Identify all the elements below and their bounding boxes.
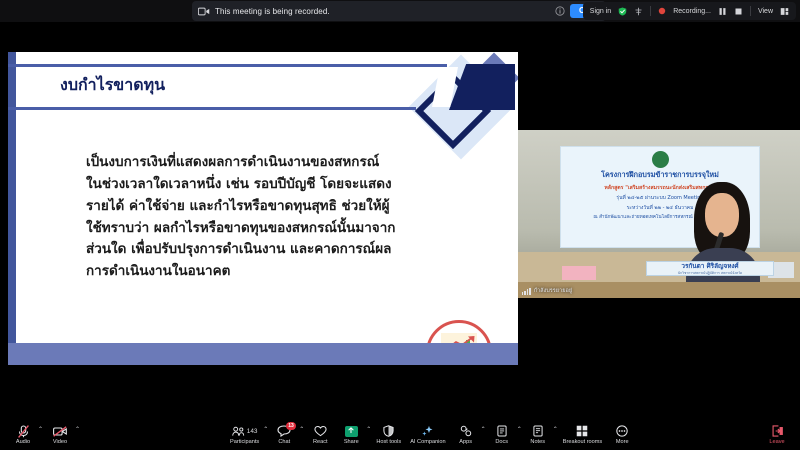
audio-control-group: Audio ⌃ [8,424,43,447]
react-label: React [313,439,328,445]
network-icon[interactable] [634,7,643,16]
leave-label: Leave [769,439,784,445]
host-tools-button[interactable]: Host tools [372,424,405,447]
title-rule-bottom [8,107,416,110]
sign-in-button[interactable]: Sign in [590,8,611,15]
video-status: กำลังบรรยายอยู่ [522,287,572,295]
pause-icon[interactable] [718,7,727,16]
docs-button[interactable]: Docs [487,424,517,447]
shared-slide[interactable]: งบกำไรขาดทุน เป็นงบการเงินที่แสดงผลการดำ… [8,52,518,365]
breakout-rooms-icon [576,425,588,438]
chat-button[interactable]: 13 Chat [269,424,299,447]
host-tools-label: Host tools [376,439,401,445]
apps-group: Apps ⌃ [451,424,486,447]
recording-message: This meeting is being recorded. [215,7,330,16]
slide-body-line: เป็นงบการเงินที่แสดงผลการดำเนินงานของสหก… [86,152,446,174]
slide-bottom-bar [8,343,518,365]
title-chevron-navy [449,64,515,110]
camera-muted-icon [53,425,67,438]
video-label: Video [53,439,67,445]
notes-icon [533,425,543,438]
video-button[interactable]: Video [45,424,75,447]
notes-label: Notes [530,439,545,445]
recording-banner: This meeting is being recorded. OK [192,1,606,21]
share-button[interactable]: Share [336,424,366,447]
view-button[interactable]: View [758,8,773,15]
heart-icon [314,425,327,438]
share-screen-icon [345,425,358,438]
top-right-controls: Sign in Recording... View [583,2,796,20]
more-button[interactable]: More [607,424,637,447]
sparkle-icon [421,425,434,438]
leave-door-icon [771,425,784,438]
docs-label: Docs [495,439,508,445]
chat-label: Chat [278,439,290,445]
shield-host-icon [383,425,394,438]
participants-button[interactable]: 143 Participants [226,424,263,447]
breakout-rooms-label: Breakout rooms [563,439,602,445]
info-icon[interactable] [555,6,565,16]
chat-icon: 13 [277,425,291,438]
ai-companion-label: AI Companion [410,439,445,445]
divider [750,6,751,16]
chat-unread-badge: 13 [286,422,297,430]
notes-group: Notes ⌃ [523,424,558,447]
notes-caret-icon[interactable]: ⌃ [553,426,558,433]
share-group: Share ⌃ [336,424,371,447]
more-ellipsis-icon [616,425,628,438]
share-caret-icon[interactable]: ⌃ [366,426,371,433]
slide-body-line: ในช่วงเวลาใดเวลาหนึ่ง เช่น รอบปีบัญชี โด… [86,174,446,196]
nameplate: วรกันตา ศิริลัญจหงศ์ นักวิชาการสหกรณ์ปฏิ… [646,261,774,276]
slide-body-text: เป็นงบการเงินที่แสดงผลการดำเนินงานของสหก… [86,152,446,283]
docs-caret-icon[interactable]: ⌃ [517,426,522,433]
participants-caret-icon[interactable]: ⌃ [263,426,268,433]
recording-dot-icon [658,7,666,15]
zoom-meeting-window: This meeting is being recorded. OK Sign … [0,0,800,450]
chat-group: 13 Chat ⌃ [269,424,304,447]
shield-check-icon[interactable] [618,7,627,16]
toolbar-center-group: 143 Participants ⌃ 13 Chat ⌃ [226,424,637,447]
participants-group: 143 Participants ⌃ [226,424,268,447]
slide-title-band: งบกำไรขาดทุน [8,64,518,110]
toolbar-left-group: Audio ⌃ Video ⌃ [8,424,80,447]
top-bar: This meeting is being recorded. OK Sign … [0,0,800,22]
nameplate-subtitle: นักวิชาการสหกรณ์ปฏิบัติการ สหกรณ์จังหวัด [647,271,773,276]
breakout-rooms-button[interactable]: Breakout rooms [559,424,606,447]
apps-label: Apps [459,439,472,445]
meeting-toolbar: Audio ⌃ Video ⌃ [0,420,800,450]
slide-body-line: ใช้ทราบว่า ผลกำไรหรือขาดทุนของสหกรณ์นั้น… [86,218,446,240]
leave-button[interactable]: Leave [762,424,792,447]
more-label: More [616,439,629,445]
audio-options-caret-icon[interactable]: ⌃ [38,426,43,433]
divider [650,6,651,16]
participants-count: 143 [247,428,258,435]
view-layout-icon[interactable] [780,7,789,16]
department-logo-icon [652,151,669,168]
slide-body-line: รายได้ ค่าใช้จ่าย และกำไรหรือขาดทุนสุทธิ… [86,196,446,218]
video-status-label: กำลังบรรยายอยู่ [534,287,573,295]
slide-title: งบกำไรขาดทุน [60,73,165,98]
papers-on-desk [562,266,596,280]
toolbar-right-group: Leave [762,424,792,447]
share-label: Share [344,439,359,445]
banner-line-1: โครงการฝึกอบรมข้าราชการบรรจุใหม่ [561,170,759,181]
react-button[interactable]: React [305,424,335,447]
signal-bars-icon [522,288,531,295]
docs-group: Docs ⌃ [487,424,522,447]
audio-label: Audio [16,439,30,445]
microphone-muted-icon [18,425,29,438]
speaker-person [686,182,760,298]
notes-button[interactable]: Notes [523,424,553,447]
video-options-caret-icon[interactable]: ⌃ [75,426,80,433]
participants-icon: 143 [232,425,258,438]
slide-body-line: ส่วนใด เพื่อปรับปรุงการดำเนินงาน และคาดก… [86,239,446,261]
slide-body-line: การดำเนินงานในอนาคต [86,261,446,283]
video-control-group: Video ⌃ [45,424,80,447]
apps-caret-icon[interactable]: ⌃ [481,426,486,433]
apps-button[interactable]: Apps [451,424,481,447]
video-record-icon [198,7,210,16]
title-rule-top [8,64,447,67]
recording-status-label: Recording... [673,8,711,15]
participants-label: Participants [230,439,259,445]
ai-companion-button[interactable]: AI Companion [406,424,449,447]
speaker-video-tile[interactable]: โครงการฝึกอบรมข้าราชการบรรจุใหม่ หลักสูต… [518,130,800,298]
chat-caret-icon[interactable]: ⌃ [299,426,304,433]
stop-icon[interactable] [734,7,743,16]
nameplate-name: วรกันตา ศิริลัญจหงศ์ [647,262,773,271]
audio-button[interactable]: Audio [8,424,38,447]
apps-icon [460,425,472,438]
docs-icon [497,425,507,438]
